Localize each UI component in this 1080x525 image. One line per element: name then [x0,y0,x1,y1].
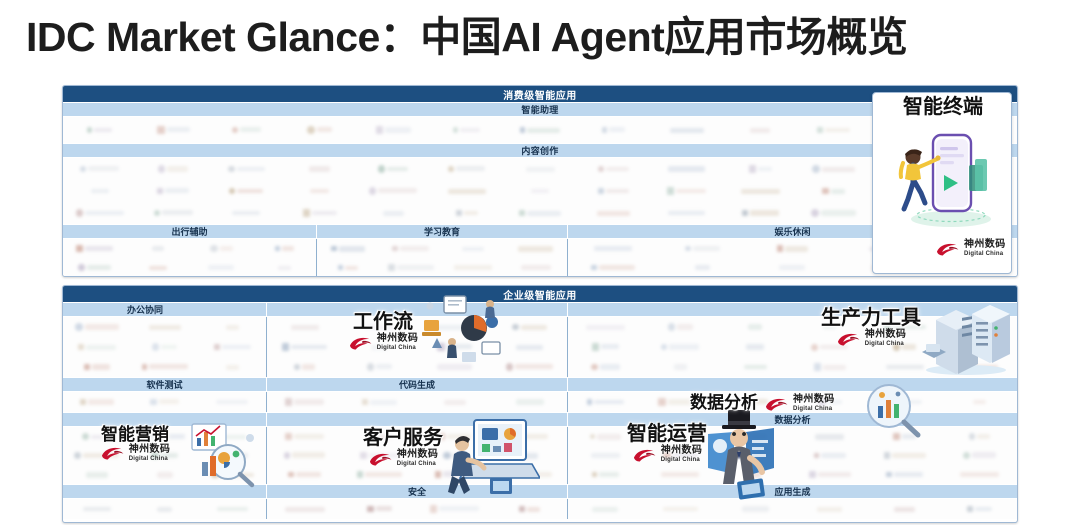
vendor-logo [210,245,233,253]
vendor-logo [507,471,553,478]
vendor-logo [367,363,393,371]
vendor-logo-cell [63,499,131,519]
vendor-logo [823,325,836,329]
vendor-logo [367,506,392,513]
vendor-logo-cell [417,446,492,465]
enterprise-band2 [63,392,1017,412]
vendor-logo [430,505,480,513]
vendor-logo [362,399,397,405]
vendor-logo [78,344,117,351]
vendor-logo [817,127,850,133]
vendor-logo-cell [317,258,380,277]
logo-row [63,357,266,377]
page-title: IDC Market Glance：中国AI Agent应用市场概览 [26,12,1066,63]
category-bar-band2-right [567,377,1017,392]
vendor-logo [597,211,630,216]
vendor-logo [80,399,114,405]
vendor-logo-cell [198,317,266,337]
logo-row [267,357,567,377]
vendor-logo [228,166,265,173]
vendor-logo-cell [643,446,718,465]
column-education [316,239,567,277]
vendor-logo [438,433,471,440]
vendor-logo [149,266,167,270]
vendor-logo [520,127,561,133]
vendor-logo-cell [342,392,417,412]
logo-row [267,392,567,412]
enterprise-section-header: 企业级智能应用 [63,286,1017,302]
vendor-logo [661,472,699,477]
vendor-logo-cell [643,317,718,337]
vendor-logo [211,471,254,479]
vendor-logo [815,434,844,440]
vendor-logo [285,507,325,512]
vendor-logo [886,472,923,478]
vendor-logo [76,209,124,216]
vendor-logo [521,265,551,270]
logo-row [317,239,567,258]
vendor-logo-cell [718,446,793,465]
logo-row [63,427,266,446]
vendor-logo-cell [342,499,417,519]
vendor-logo [285,398,325,406]
vendor-logo [602,127,625,132]
digital-china-text: 神州数码 Digital China [964,240,1006,257]
logo-row [568,499,1017,519]
vendor-logo-cell [492,392,567,412]
vendor-logo [448,189,486,194]
vendor-logo-cell [867,427,942,446]
logo-row [568,446,1017,465]
vendor-logo [531,189,549,193]
vendor-logo [87,127,112,132]
vendor-logo [814,363,846,370]
vendor-logo-cell [267,427,342,446]
vendor-logo [443,452,465,459]
vendor-logo-cell [131,392,199,412]
category-bar-band3-mid [266,412,567,427]
category-bar-band4-left [63,484,266,499]
vendor-logo [376,126,411,133]
vendor-logo-cell [267,337,342,357]
vendor-logo [142,364,188,369]
vendor-logo-cell [568,357,643,377]
logo-row [267,427,567,446]
enterprise-band4-category-strip: 安全 应用生成 [63,484,1017,499]
vendor-logo-cell [867,357,942,377]
vendor-logo-cell [357,158,430,180]
enterprise-section: 企业级智能应用 办公协同 软件测试 代码生成 数据分析 [62,285,1018,523]
category-bar-office-collab: 办公协同 [63,302,266,317]
vendor-logo-cell [867,499,942,519]
vendor-logo-cell [198,337,266,357]
vendor-logo [695,265,710,270]
logo-row [267,446,567,465]
vendor-logo [963,452,997,460]
vendor-logo-cell [658,258,748,277]
vendor-logo [893,433,916,440]
vendor-logo [749,472,761,478]
vendor-logo [969,433,990,439]
column-office-collab [63,317,266,377]
category-bar-code-gen: 代码生成 [266,377,567,392]
vendor-logo-cell [718,337,793,357]
vendor-logo-cell [577,180,650,202]
vendor-logo [685,246,720,252]
vendor-logo-cell [492,337,567,357]
vendor-logo-cell [643,427,718,446]
logo-row [63,317,266,337]
vendor-logo-cell [643,357,718,377]
vendor-logo [516,345,543,350]
vendor-logo-cell [136,117,209,143]
vendor-logo [331,246,365,252]
vendor-logo [232,127,262,134]
column-band2-right [567,392,1017,412]
enterprise-band1-category-strip: 办公协同 [63,302,1017,317]
callout-label: 智能终端 [903,97,983,118]
brand-name-en: Digital China [964,251,1006,257]
vendor-logo [748,324,762,330]
vendor-logo [157,472,173,478]
vendor-logo [658,398,702,406]
vendor-logo [378,165,408,172]
vendor-logo-cell [131,427,199,446]
vendor-logo [811,344,848,351]
vendor-logo-cell [503,158,576,180]
category-bar-band1-right [567,302,1017,317]
vendor-logo [511,434,548,439]
vendor-logo-cell [63,158,136,180]
vendor-logo [444,400,466,405]
vendor-logo [454,265,492,270]
vendor-logo [229,188,263,194]
vendor-logo-cell [430,158,503,180]
vendor-logo-cell [380,239,443,258]
vendor-logo-cell [198,465,266,484]
vendor-logo-cell [505,239,568,258]
logo-row [63,465,266,484]
vendor-logo-cell [442,258,505,277]
vendor-logo [961,365,998,370]
vendor-logo-cell [792,446,867,465]
vendor-logo-cell [136,180,209,202]
vendor-logo-cell [63,317,131,337]
vendor-logo-cell [210,202,283,224]
vendor-logo-cell [492,446,567,465]
digital-china-logo: 神州数码 Digital China [935,240,1006,257]
vendor-logo [294,364,314,370]
vendor-logo [586,325,625,330]
vendor-logo [592,472,620,478]
column-software-test [63,392,266,412]
vendor-logo-cell [198,357,266,377]
vendor-logo [961,344,998,351]
vendor-logo-cell [724,117,797,143]
vendor-logo-cell [577,202,650,224]
vendor-logo [516,399,544,405]
vendor-logo-cell [198,446,266,465]
vendor-logo-cell [198,392,266,412]
logo-row [63,446,266,465]
vendor-logo-cell [63,465,131,484]
vendor-logo [779,265,805,270]
logo-row [63,258,316,277]
vendor-logo [809,471,851,478]
vendor-logo [307,126,332,134]
category-bar-travel: 出行辅助 [63,224,316,239]
logo-row [568,357,1017,377]
vendor-logo [598,188,630,195]
logo-row [568,392,1017,412]
vendor-logo-cell [503,202,576,224]
vendor-logo [82,433,112,440]
vendor-logo-cell [492,317,567,337]
vendor-logo-cell [267,357,342,377]
column-workflow [266,317,567,377]
vendor-logo-cell [342,427,417,446]
vendor-logo [812,165,854,172]
vendor-logo-cell [792,317,867,337]
vendor-logo-cell [867,317,942,337]
vendor-logo [674,364,687,370]
column-app-gen [567,499,1017,519]
vendor-logo-cell [942,465,1017,484]
vendor-logo [150,399,179,406]
vendor-logo-cell [63,202,136,224]
vendor-logo [282,343,327,350]
vendor-logo [291,325,319,330]
vendor-logo-cell [417,499,492,519]
vendor-logo-cell [357,180,430,202]
logo-row [267,337,567,357]
vendor-logo-cell [718,465,793,484]
logo-row [568,337,1017,357]
vendor-logo-cell [568,337,643,357]
vendor-logo [894,507,915,512]
vendor-logo [668,323,693,330]
vendor-logo [814,453,847,459]
vendor-logo [226,365,239,370]
vendor-logo [80,166,119,172]
vendor-logo-cell [430,180,503,202]
vendor-logo [285,433,324,440]
vendor-logo-cell [942,446,1017,465]
phone-person-illustration [889,121,1001,231]
vendor-logo [518,246,553,252]
vendor-logo [818,398,842,406]
vendor-logo [462,247,484,251]
vendor-logo [78,264,110,270]
vendor-logo [884,452,926,458]
vendor-logo [453,127,480,132]
vendor-logo-cell [942,392,1017,412]
vendor-logo [383,211,404,216]
vendor-logo-cell [568,446,643,465]
vendor-logo-cell [503,180,576,202]
vendor-logo-cell [568,427,643,446]
vendor-logo-cell [442,239,505,258]
category-bar-band3-left [63,412,266,427]
vendor-logo [369,187,417,194]
vendor-logo [888,398,922,406]
vendor-logo-cell [430,202,503,224]
category-bar-software-test: 软件测试 [63,377,266,392]
vendor-logo [592,507,618,512]
vendor-logo-cell [283,117,356,143]
vendor-logo-cell [797,202,870,224]
vendor-logo-cell [357,117,430,143]
vendor-logo [435,325,475,330]
vendor-logo-cell [658,239,748,258]
vendor-logo-cell [577,158,650,180]
logo-row [63,239,316,258]
vendor-logo-cell [136,158,209,180]
vendor-logo-cell [650,117,723,143]
vendor-logo [288,472,320,477]
vendor-logo-cell [568,258,658,277]
vendor-logo-cell [267,446,342,465]
vendor-logo-cell [748,239,838,258]
vendor-logo [437,364,472,370]
vendor-logo [519,506,540,512]
vendor-logo [661,344,699,350]
vendor-logo-cell [417,427,492,446]
vendor-logo [668,211,705,215]
enterprise-band2-category-strip: 软件测试 代码生成 [63,377,1017,392]
vendor-logo [74,452,119,459]
vendor-logo [591,453,620,458]
category-bar-band1-mid [266,302,567,317]
vendor-logo-cell [718,357,793,377]
vendor-logo [284,452,325,458]
vendor-logo [970,324,990,329]
vendor-logo-cell [198,427,266,446]
vendor-logo-cell [718,499,793,519]
vendor-logo [817,507,842,512]
vendor-logo [519,210,561,216]
vendor-logo-cell [492,499,567,519]
vendor-logo-cell [283,180,356,202]
vendor-logo-cell [568,465,643,484]
vendor-logo-cell [126,258,189,277]
vendor-logo [746,344,764,350]
vendor-logo [86,472,108,478]
vendor-logo [973,400,986,404]
vendor-logo [590,434,621,440]
vendor-logo-cell [63,180,136,202]
vendor-logo-cell [190,258,253,277]
vendor-logo-cell [942,427,1017,446]
vendor-logo-cell [650,180,723,202]
vendor-logo-cell [650,158,723,180]
logo-row [63,337,266,357]
callout-terminal: 智能终端 [879,97,1007,118]
vendor-logo [811,209,856,217]
vendor-logo-cell [190,239,253,258]
vendor-logo [435,471,475,478]
vendor-logo-cell [643,465,718,484]
vendor-logo [884,324,926,331]
category-bar-app-gen: 应用生成 [567,484,1017,499]
vendor-logo [226,325,239,330]
vendor-logo-cell [210,180,283,202]
column-marketing [63,427,266,484]
vendor-logo-cell [417,392,492,412]
vendor-logo [75,323,118,330]
vendor-logo-cell [568,317,643,337]
vendor-logo [338,265,358,270]
vendor-logo-cell [342,465,417,484]
vendor-logo [371,345,388,350]
vendor-logo-cell [797,158,870,180]
vendor-logo [743,453,768,458]
vendor-logo [744,365,767,369]
vendor-logo-cell [342,317,417,337]
vendor-logo [83,507,111,511]
vendor-logo-cell [792,392,867,412]
logo-row [568,427,1017,446]
vendor-logo-cell [210,117,283,143]
vendor-logo-cell [718,317,793,337]
vendor-logo [218,435,246,439]
vendor-logo-cell [267,465,342,484]
vendor-logo-cell [568,239,658,258]
vendor-logo [741,189,780,194]
category-bar-security: 安全 [266,484,567,499]
vendor-logo-cell [283,202,356,224]
vendor-logo [893,343,916,350]
vendor-logo-cell [650,202,723,224]
vendor-logo-cell [724,158,797,180]
vendor-logo-cell [63,427,131,446]
vendor-logo-cell [942,357,1017,377]
vendor-logo [886,365,924,369]
vendor-logo [152,246,164,251]
vendor-logo-cell [568,392,643,412]
vendor-logo-cell [131,499,199,519]
vendor-logo [367,433,392,439]
logo-row [267,499,567,519]
vendor-logo [76,245,113,252]
vendor-logo [84,364,110,370]
vendor-logo-cell [210,158,283,180]
vendor-logo-cell [267,392,342,412]
logo-row [63,392,266,412]
vendor-logo [309,166,330,172]
column-travel [63,239,316,277]
vendor-logo-cell [63,239,126,258]
vendor-logo [960,472,999,477]
vendor-logo-cell [63,117,136,143]
vendor-logo-cell [283,158,356,180]
vendor-logo [149,325,181,330]
vendor-logo [750,128,770,133]
vendor-logo [674,434,687,439]
vendor-logo [667,187,706,194]
vendor-logo-cell [568,499,643,519]
vendor-logo-cell [797,180,870,202]
vendor-logo-cell [342,446,417,465]
smart-terminal-panel: 智能终端 [872,92,1012,274]
vendor-logo-cell [131,337,199,357]
vendor-logo [456,210,478,216]
vendor-logo [151,452,178,460]
vendor-logo-cell [136,202,209,224]
vendor-logo [663,507,698,511]
vendor-logo-cell [797,117,870,143]
vendor-logo-cell [492,465,567,484]
